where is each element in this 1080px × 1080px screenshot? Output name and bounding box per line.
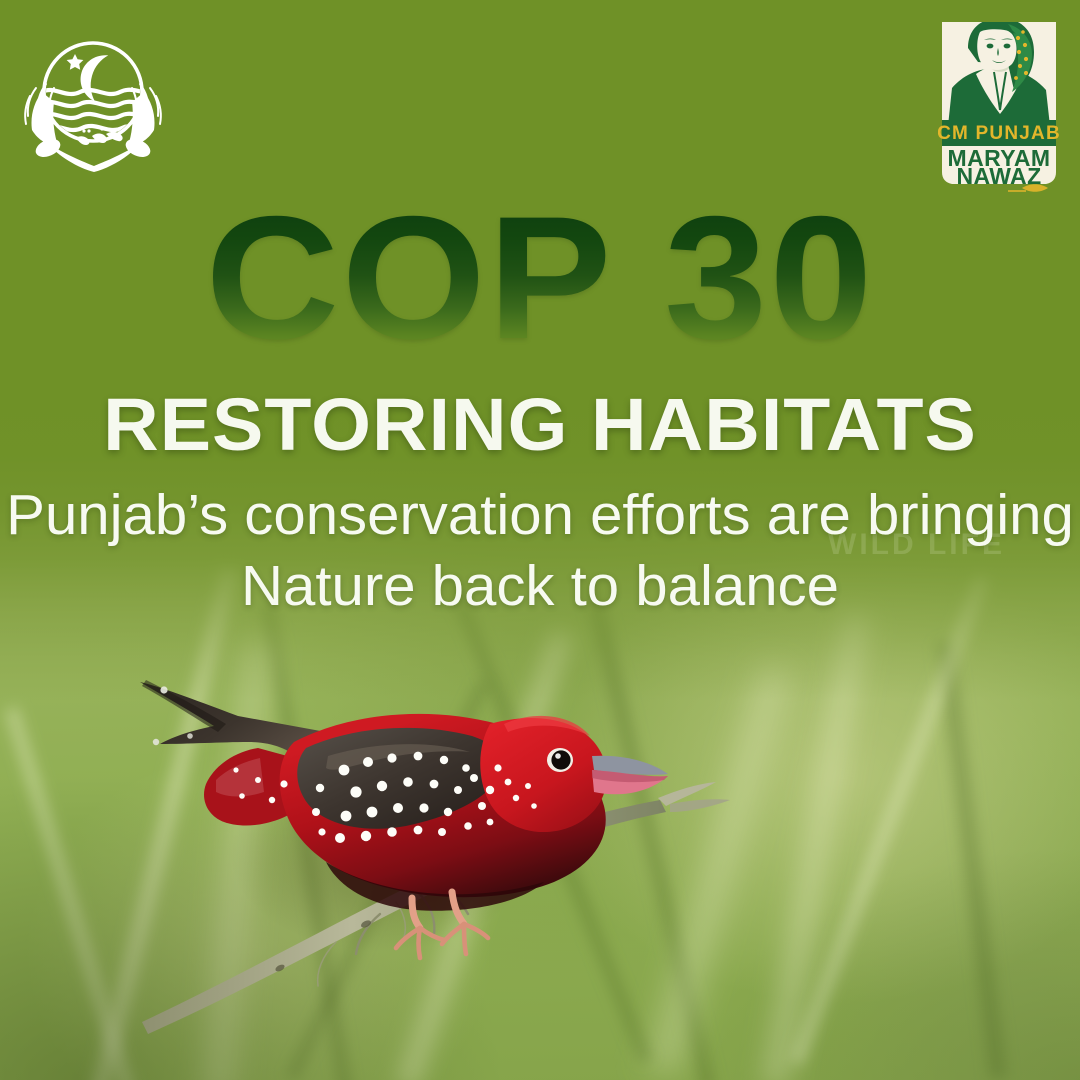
poster-canvas: WILD LIFE [0,0,1080,1080]
subheading: RESTORING HABITATS [0,382,1080,467]
page-title-cop30: COP 30 [0,196,1080,362]
cm-punjab-maryam-nawaz-logo: CM PUNJAB MARYAM NAWAZ [938,14,1060,194]
punjab-government-emblem [18,30,168,172]
cm-punjab-label: CM PUNJAB [938,123,1060,144]
tagline-text: Punjab’s conservation efforts are bringi… [0,480,1080,621]
